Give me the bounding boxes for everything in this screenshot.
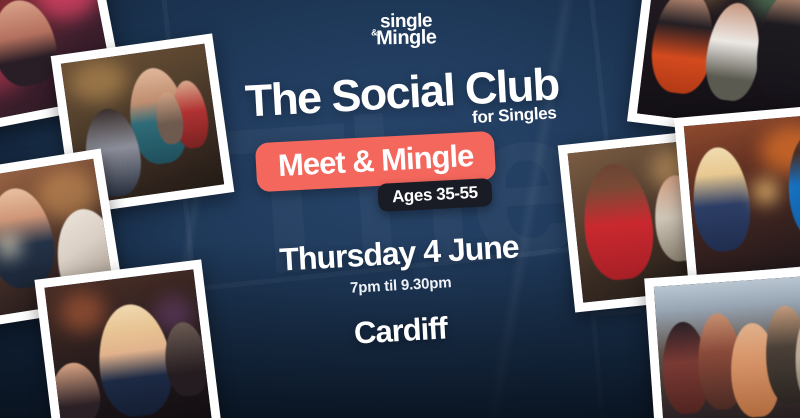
poster-content: & single Mingle The Social Club for Sing… xyxy=(0,0,800,418)
event-type-label: Meet & Mingle xyxy=(277,139,474,180)
date-group: Thursday 4 June 7pm til 9.30pm xyxy=(279,230,521,300)
age-range-badge: Ages 35-55 xyxy=(377,178,492,212)
event-location: Cardiff xyxy=(353,310,448,351)
headline-group: The Social Club for Singles xyxy=(244,61,556,123)
event-poster: The xyxy=(0,0,800,418)
page-subtitle: for Singles xyxy=(471,103,557,128)
age-range-label: Ages 35-55 xyxy=(392,183,479,204)
brand-logo: & single Mingle xyxy=(364,13,437,48)
badge-group: Meet & Mingle Ages 35-55 xyxy=(250,137,550,215)
brand-ampersand: & xyxy=(371,29,378,37)
event-date: Thursday 4 June xyxy=(279,230,520,275)
